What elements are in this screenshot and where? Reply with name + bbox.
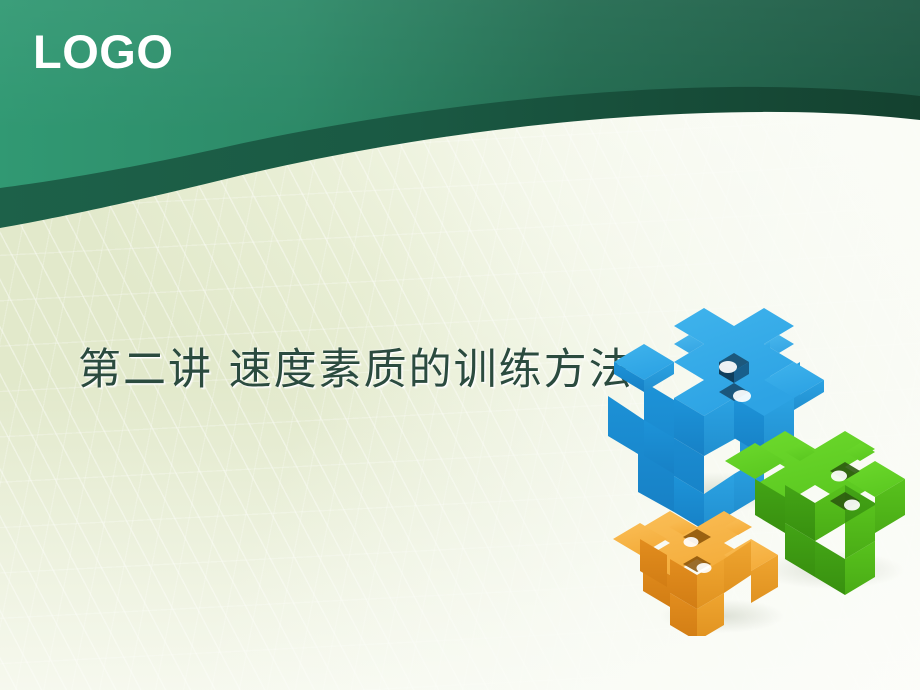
puzzle-artwork [600, 296, 920, 636]
voxel-puzzle-illustration [600, 296, 920, 636]
page-title: 第二讲 速度素质的训练方法 [78, 347, 634, 394]
header-band: LOGO [0, 0, 920, 260]
logo-text: LOGO [33, 28, 173, 75]
slide-canvas: LOGO 第二讲 速度素质的训练方法 [0, 0, 920, 690]
